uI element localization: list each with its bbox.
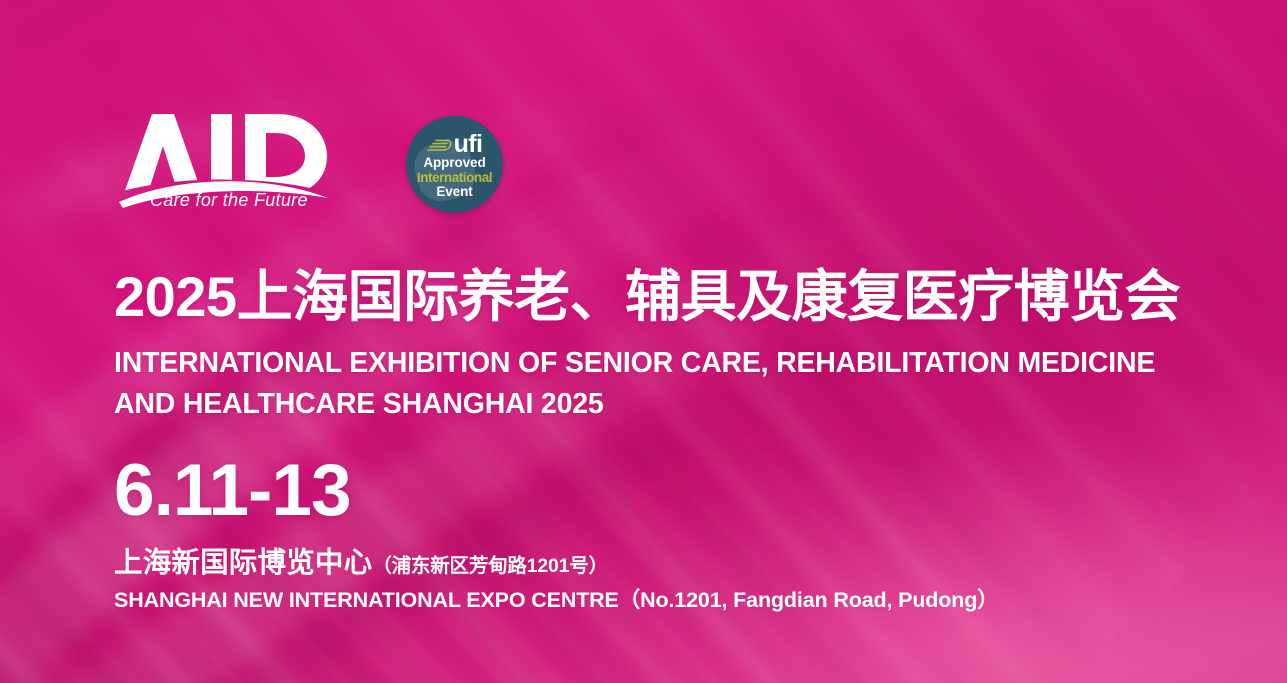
event-title-english-line2: AND HEALTHCARE SHANGHAI 2025: [114, 384, 1180, 426]
ufi-event-label: Event: [436, 185, 472, 199]
venue-chinese-name: 上海新国际博览中心: [114, 547, 372, 579]
venue-chinese-address: （浦东新区芳甸路1201号）: [372, 555, 608, 577]
event-title-english: INTERNATIONAL EXHIBITION OF SENIOR CARE,…: [114, 343, 1180, 426]
venue-english-name: SHANGHAI NEW INTERNATIONAL EXPO CENTRE: [114, 588, 619, 612]
venue-english-address: （No.1201, Fangdian Road, Pudong）: [619, 588, 999, 612]
event-date: 6.11-13: [114, 457, 1180, 525]
event-title-chinese: 2025上海国际养老、辅具及康复医疗博览会: [114, 268, 1180, 326]
venue-chinese: 上海新国际博览中心（浦东新区芳甸路1201号）: [114, 548, 1180, 580]
headline-block: 2025上海国际养老、辅具及康复医疗博览会 INTERNATIONAL EXHI…: [114, 268, 1180, 612]
ufi-wordmark: ufi: [454, 132, 483, 157]
event-banner: Care for the Future: [0, 0, 1287, 683]
event-title-english-line1: INTERNATIONAL EXHIBITION OF SENIOR CARE,…: [114, 343, 1180, 385]
aid-logo[interactable]: Care for the Future: [117, 112, 329, 216]
aid-tagline: Care for the Future: [150, 190, 308, 211]
logo-row: Care for the Future: [117, 112, 503, 216]
ufi-approved-label: Approved: [423, 156, 485, 170]
ufi-approved-badge[interactable]: ufi Approved International Event: [406, 116, 503, 213]
venue-english: SHANGHAI NEW INTERNATIONAL EXPO CENTRE（N…: [114, 589, 1180, 613]
ufi-swoosh-icon: [427, 137, 453, 154]
ufi-international-label: International: [417, 171, 492, 185]
